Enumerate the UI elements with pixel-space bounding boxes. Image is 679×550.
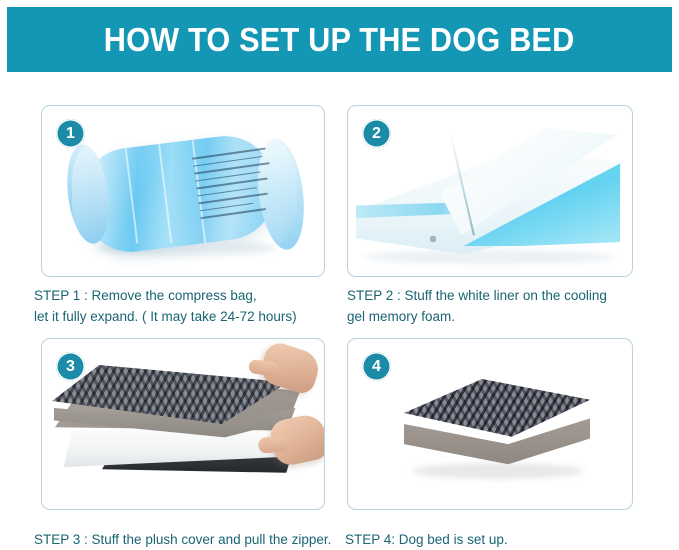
header-banner: HOW TO SET UP THE DOG BED <box>7 7 672 72</box>
step-panel-4: 4 <box>347 338 633 510</box>
step-3-caption-line-1: STEP 3 : Stuff the plush cover and pull … <box>34 529 331 550</box>
bag-printed-label <box>192 147 280 233</box>
step-2-caption: STEP 2 : Stuff the white liner on the co… <box>347 285 607 327</box>
step-4-caption: STEP 4: Dog bed is set up. <box>345 529 508 550</box>
step-badge-3: 3 <box>56 352 85 381</box>
step-4-caption-line-1: STEP 4: Dog bed is set up. <box>345 529 508 550</box>
hand-lower-fingers <box>258 435 290 454</box>
bed-shadow <box>412 463 584 479</box>
step-1-caption-line-1: STEP 1 : Remove the compress bag, <box>34 285 297 306</box>
step-1-caption: STEP 1 : Remove the compress bag, let it… <box>34 285 297 327</box>
step-badge-1: 1 <box>56 119 85 148</box>
finished-dog-bed-graphic <box>404 379 590 483</box>
page-title: HOW TO SET UP THE DOG BED <box>104 21 575 59</box>
step-panel-2: 2 <box>347 105 633 277</box>
compressed-roll-graphic <box>72 128 297 258</box>
liner-foam-graphic <box>354 124 626 260</box>
step-panel-1: 1 <box>41 105 325 277</box>
zipper-pull <box>430 236 436 242</box>
step-2-caption-line-1: STEP 2 : Stuff the white liner on the co… <box>347 285 607 306</box>
step-panel-3: 3 <box>41 338 325 510</box>
step-3-caption: STEP 3 : Stuff the plush cover and pull … <box>34 529 331 550</box>
step-1-caption-line-2: let it fully expand. ( It may take 24-72… <box>34 306 297 327</box>
mat-shadow <box>364 250 614 264</box>
step-badge-4: 4 <box>362 352 391 381</box>
hand-upper-fingers <box>248 359 280 377</box>
step-2-caption-line-2: gel memory foam. <box>347 306 607 327</box>
step-badge-2: 2 <box>362 119 391 148</box>
